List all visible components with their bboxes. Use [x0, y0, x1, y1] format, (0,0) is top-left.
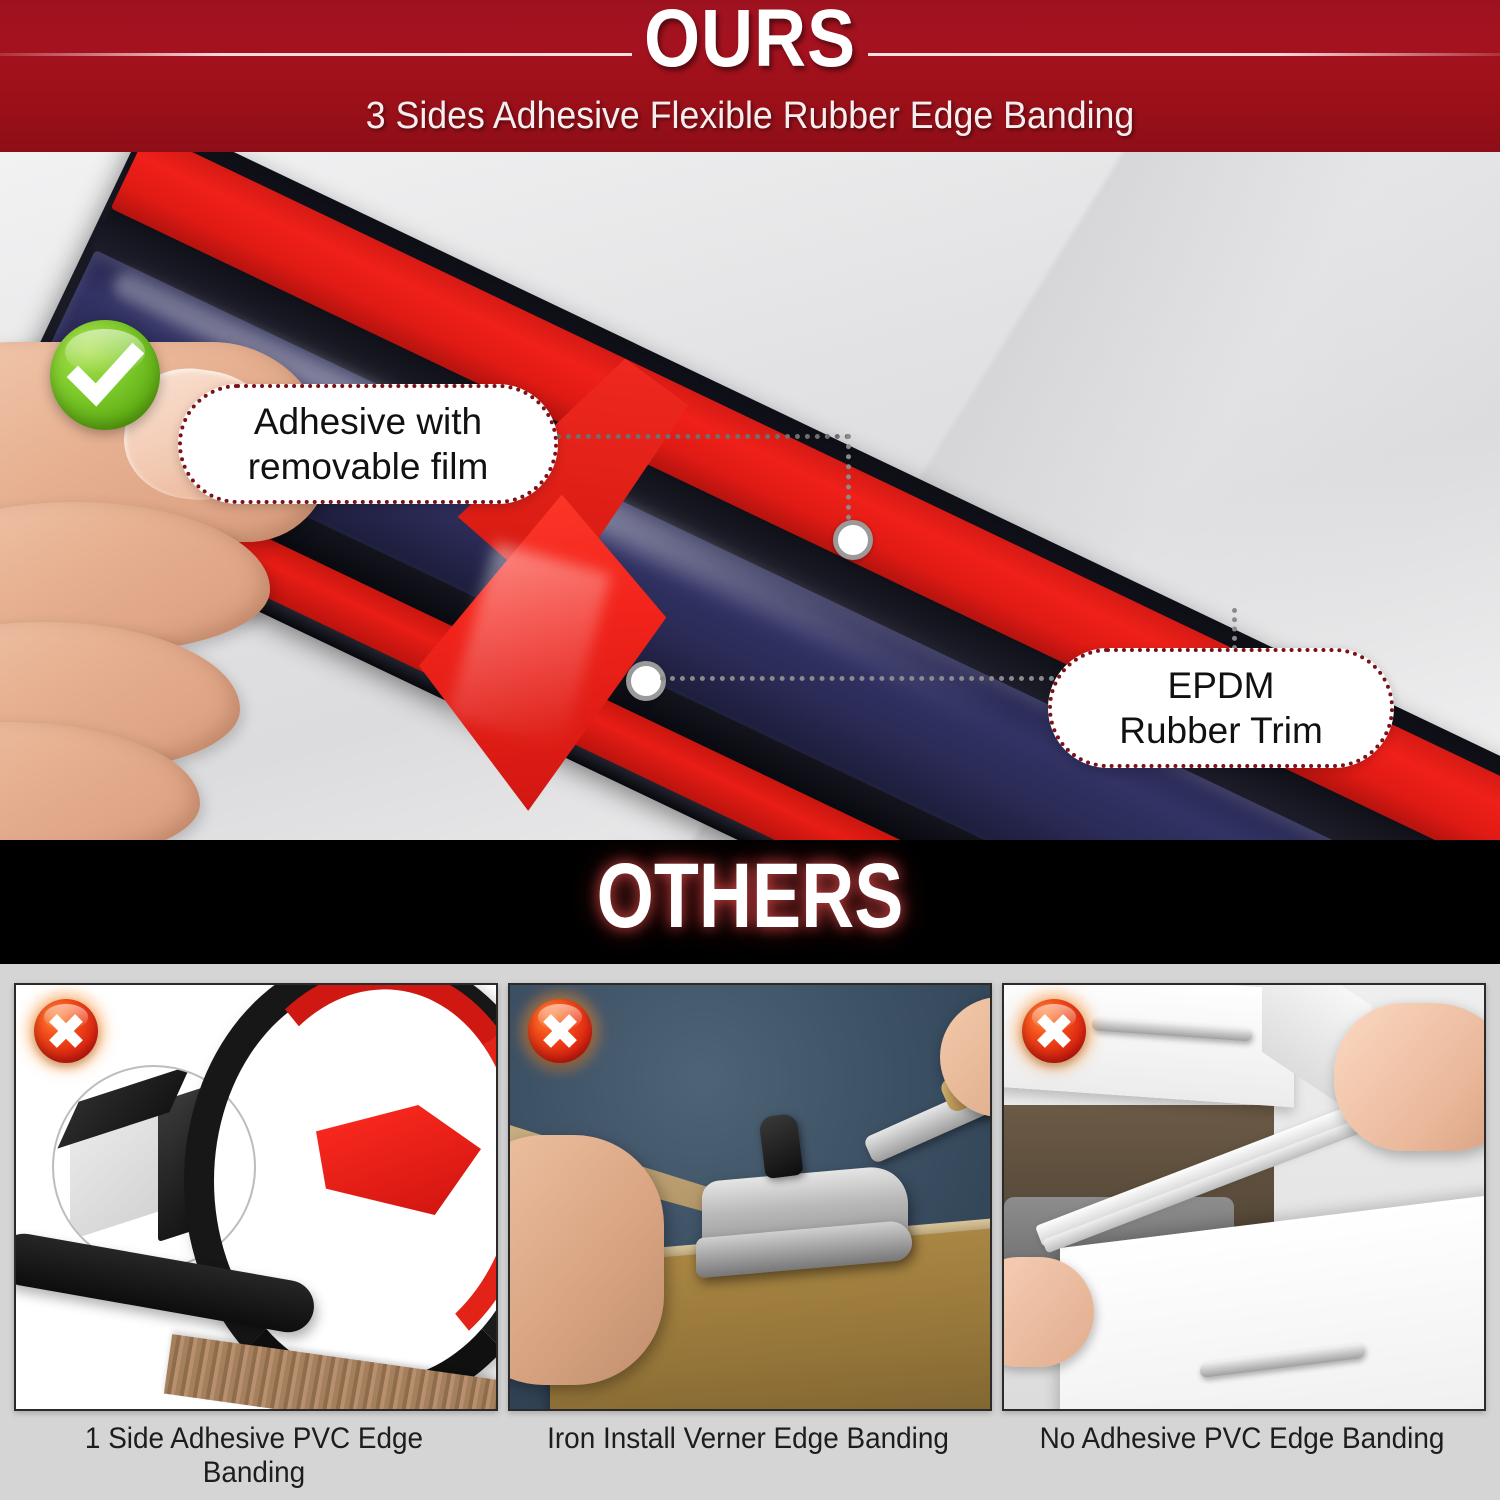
panel-caption-3: No Adhesive PVC Edge Banding [1019, 1422, 1465, 1456]
ours-hero-image: Adhesive with removable film EPDM Rubber… [0, 152, 1500, 840]
red-x-badge-icon-2 [528, 999, 592, 1063]
callout-epdm-line2: Rubber Trim [1119, 708, 1323, 753]
callout-epdm-line1: EPDM [1119, 663, 1323, 708]
hand-right-holding-strip [1334, 1003, 1486, 1151]
others-banner: OTHERS [0, 840, 1500, 964]
callout-epdm-rubber-trim: EPDM Rubber Trim [1048, 648, 1394, 768]
ours-banner: OURS 3 Sides Adhesive Flexible Rubber Ed… [0, 0, 1500, 152]
product-comparison-infographic: OURS 3 Sides Adhesive Flexible Rubber Ed… [0, 0, 1500, 1500]
hand-holding-veneer [508, 1135, 664, 1385]
ours-subtitle: 3 Sides Adhesive Flexible Rubber Edge Ba… [45, 95, 1455, 138]
iron-knob [758, 1113, 803, 1179]
marker-dot-epdm [626, 661, 666, 701]
panel-caption-1: 1 Side Adhesive PVC Edge Banding [31, 1422, 477, 1490]
red-x-badge-icon-3 [1022, 999, 1086, 1063]
red-x-badge-icon-1 [34, 999, 98, 1063]
leader-line-adhesive-horizontal [556, 434, 850, 439]
callout-adhesive-line1: Adhesive with [248, 399, 489, 444]
green-check-badge-icon [50, 320, 160, 430]
others-title: OTHERS [150, 842, 1350, 951]
ours-title: OURS [90, 0, 1410, 82]
callout-adhesive-with-removable-film: Adhesive with removable film [178, 384, 558, 504]
marker-dot-adhesive [833, 520, 873, 560]
others-panel-2 [508, 983, 992, 1411]
others-panels-row: 1 Side Adhesive PVC Edge Banding Iron In… [0, 964, 1500, 1500]
others-panel-1 [14, 983, 498, 1411]
panel-caption-2: Iron Install Verner Edge Banding [525, 1422, 971, 1456]
others-panel-3 [1002, 983, 1486, 1411]
callout-adhesive-line2: removable film [248, 444, 489, 489]
leader-line-adhesive-vertical [846, 434, 851, 530]
